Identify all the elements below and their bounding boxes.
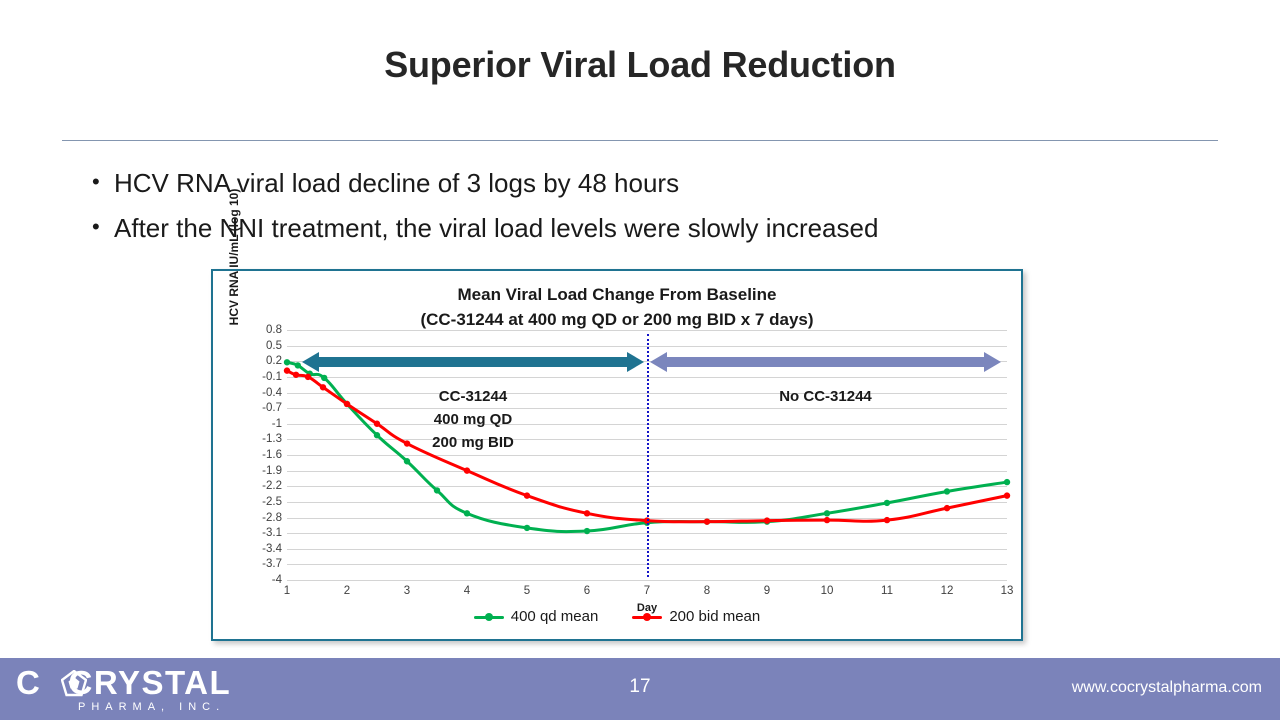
chart-container: Mean Viral Load Change From Baseline (CC…	[211, 269, 1023, 641]
y-axis-tick-label: -1.3	[262, 433, 282, 445]
data-point	[524, 525, 530, 531]
data-point	[464, 467, 470, 473]
x-axis-tick-label: 10	[821, 585, 834, 597]
data-point	[284, 359, 290, 365]
y-axis-tick-label: -3.7	[262, 558, 282, 570]
data-point	[374, 432, 380, 438]
data-point	[374, 421, 380, 427]
bullet-marker: •	[92, 212, 114, 242]
x-axis-tick-label: 5	[524, 585, 530, 597]
data-point	[404, 440, 410, 446]
arrow-shape	[650, 352, 1001, 372]
data-point	[344, 401, 350, 407]
x-axis-tick-label: 12	[941, 585, 954, 597]
data-point	[944, 505, 950, 511]
legend-item-400qd: 400 qd mean	[474, 608, 599, 625]
treatment-phase-label: CC-31244 400 mg QD 200 mg BID	[432, 386, 514, 454]
followup-phase-label: No CC-31244	[779, 386, 872, 409]
chart-legend: 400 qd mean 200 bid mean	[213, 608, 1021, 625]
chart-title: Mean Viral Load Change From Baseline (CC…	[213, 282, 1021, 332]
data-point	[305, 374, 311, 380]
x-axis-tick-label: 13	[1001, 585, 1014, 597]
data-point	[321, 375, 327, 381]
data-point	[824, 510, 830, 516]
title-divider	[62, 140, 1218, 141]
y-axis-tick-label: -1	[272, 418, 282, 430]
y-axis-tick-label: -1.9	[262, 465, 282, 477]
gridline	[287, 580, 1007, 581]
data-point	[1004, 479, 1010, 485]
y-axis-tick-label: -3.4	[262, 543, 282, 555]
x-axis-tick-label: 1	[284, 585, 290, 597]
data-point	[320, 384, 326, 390]
x-axis-tick-label: 7	[644, 585, 650, 597]
x-axis-tick-label: 11	[881, 585, 893, 597]
data-point	[1004, 492, 1010, 498]
treatment-phase-arrow	[302, 351, 644, 373]
bullet-text: After the NNI treatment, the viral load …	[114, 212, 1192, 245]
y-axis-tick-label: -4	[272, 574, 282, 586]
website-url: www.cocrystalpharma.com	[1072, 679, 1262, 697]
treatment-label-line-2: 400 mg QD	[432, 409, 514, 432]
x-axis-tick-label: 6	[584, 585, 590, 597]
treatment-label-line-1: CC-31244	[432, 386, 514, 409]
logo-tagline: PHARMA, INC.	[78, 702, 225, 713]
list-item: • HCV RNA viral load decline of 3 logs b…	[92, 167, 1192, 200]
followup-phase-arrow	[650, 351, 1001, 373]
data-point	[704, 518, 710, 524]
data-point	[884, 517, 890, 523]
data-point	[284, 367, 290, 373]
y-axis-tick-label: -0.7	[262, 402, 282, 414]
legend-marker-green-icon	[474, 611, 504, 623]
x-axis-tick-label: 9	[764, 585, 770, 597]
list-item: • After the NNI treatment, the viral loa…	[92, 212, 1192, 245]
y-axis-tick-label: -0.1	[262, 371, 282, 383]
data-point	[884, 500, 890, 506]
data-point	[295, 362, 301, 368]
bullet-list: • HCV RNA viral load decline of 3 logs b…	[92, 167, 1192, 258]
y-axis-tick-label: -0.4	[262, 387, 282, 399]
y-axis-tick-label: -2.5	[262, 496, 282, 508]
data-point	[404, 458, 410, 464]
data-point	[464, 510, 470, 516]
day7-divider	[647, 334, 649, 577]
chart-title-line-1: Mean Viral Load Change From Baseline	[213, 282, 1021, 307]
slide: Superior Viral Load Reduction • HCV RNA …	[0, 0, 1280, 720]
data-point	[944, 488, 950, 494]
bullet-marker: •	[92, 167, 114, 197]
data-point	[584, 510, 590, 516]
arrow-shape	[302, 352, 644, 372]
x-axis-tick-label: 2	[344, 585, 350, 597]
legend-item-200bid: 200 bid mean	[632, 608, 760, 625]
data-point	[293, 372, 299, 378]
x-axis-tick-label: 4	[464, 585, 470, 597]
x-axis-tick-label: 8	[704, 585, 710, 597]
data-point	[584, 528, 590, 534]
data-point	[824, 517, 830, 523]
y-axis-tick-label: 0.2	[266, 355, 282, 367]
y-axis-label: HCV RNA IU/mL (log 10)	[227, 157, 241, 357]
treatment-label-line-3: 200 mg BID	[432, 432, 514, 455]
y-axis-tick-label: -2.2	[262, 480, 282, 492]
chart-title-line-2: (CC-31244 at 400 mg QD or 200 mg BID x 7…	[213, 307, 1021, 332]
data-point	[434, 487, 440, 493]
footer-bar: COCRYSTAL PHARMA, INC. 17 www.cocrystalp…	[0, 658, 1280, 720]
bullet-text: HCV RNA viral load decline of 3 logs by …	[114, 167, 1192, 200]
legend-marker-red-icon	[632, 611, 662, 623]
plot-area: 0.80.50.2-0.1-0.4-0.7-1-1.3-1.6-1.9-2.2-…	[287, 330, 1007, 580]
data-point	[524, 492, 530, 498]
y-axis-tick-label: 0.8	[266, 324, 282, 336]
y-axis-tick-label: -3.1	[262, 527, 282, 539]
legend-label: 400 qd mean	[511, 608, 599, 625]
x-axis-tick-label: 3	[404, 585, 410, 597]
legend-label: 200 bid mean	[669, 608, 760, 625]
data-point	[764, 517, 770, 523]
page-title: Superior Viral Load Reduction	[0, 44, 1280, 86]
y-axis-tick-label: 0.5	[266, 340, 282, 352]
y-axis-tick-label: -2.8	[262, 512, 282, 524]
y-axis-tick-label: -1.6	[262, 449, 282, 461]
